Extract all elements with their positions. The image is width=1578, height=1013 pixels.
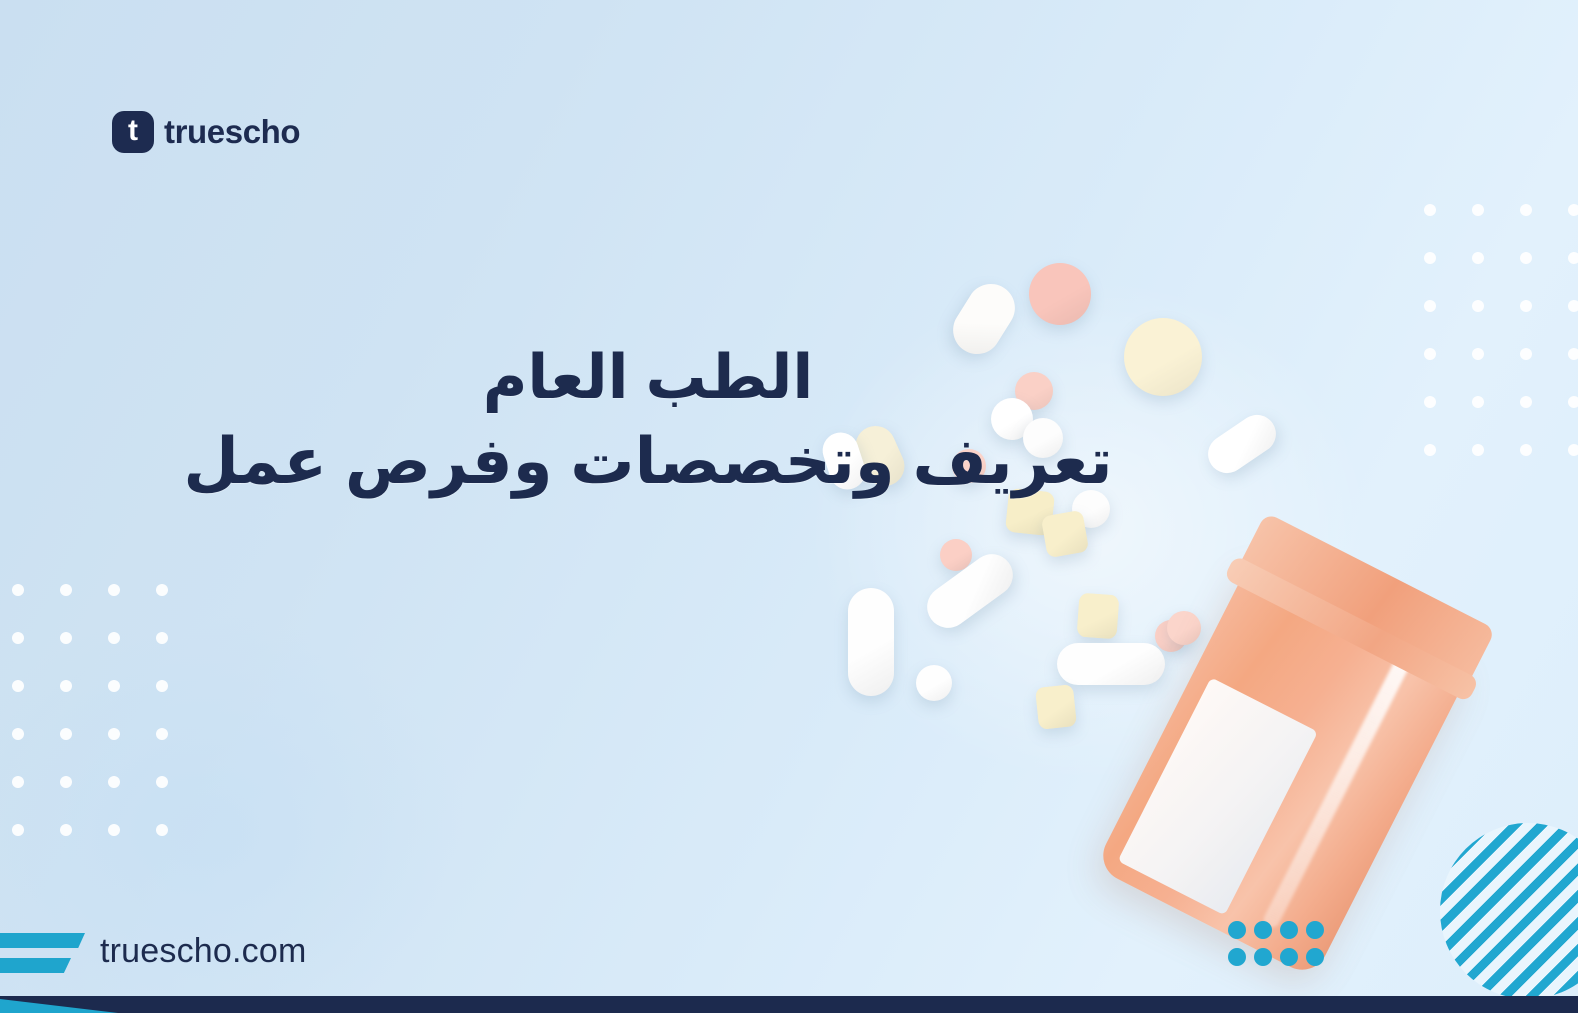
logo-wordmark: truescho: [164, 113, 300, 151]
pill-cream-tab-3: [1077, 593, 1120, 640]
dot: [1472, 204, 1484, 216]
diagonal-striped-circle-icon: [1440, 823, 1578, 999]
dot: [1520, 300, 1532, 312]
dot: [12, 728, 24, 740]
pill-cream-tab-2: [1041, 510, 1090, 559]
dot: [1280, 921, 1298, 939]
pill-white-round-4: [916, 665, 952, 701]
dot: [108, 632, 120, 644]
dot: [60, 632, 72, 644]
dot: [12, 584, 24, 596]
dot: [108, 776, 120, 788]
dot: [60, 824, 72, 836]
dot: [108, 680, 120, 692]
dot: [1254, 948, 1272, 966]
pill-pink-round-1: [1029, 263, 1091, 325]
page-title-line-1: الطب العام: [0, 337, 1296, 419]
dot: [156, 728, 168, 740]
dot: [1472, 252, 1484, 264]
bottom-navy-band: [0, 996, 1578, 1013]
dot: [108, 584, 120, 596]
footer-website-url[interactable]: truescho.com: [100, 932, 306, 971]
dot: [1568, 300, 1578, 312]
dot: [108, 824, 120, 836]
dot: [1520, 252, 1532, 264]
banner-canvas: t truescho الطب العام تعريف وتخصصات وفرص…: [0, 0, 1578, 1013]
dot: [1306, 921, 1324, 939]
dot: [1280, 948, 1298, 966]
dot: [1424, 300, 1436, 312]
pill-cream-tab-4: [1035, 684, 1077, 730]
footer-bar-bottom: [0, 958, 71, 973]
dot: [12, 824, 24, 836]
dot: [156, 632, 168, 644]
dot: [60, 584, 72, 596]
page-title-line-2: تعريف وتخصصات وفرص عمل: [0, 419, 1296, 505]
dot: [156, 584, 168, 596]
dot: [12, 680, 24, 692]
dot: [1306, 948, 1324, 966]
dot: [156, 680, 168, 692]
dot: [1568, 252, 1578, 264]
dot: [12, 776, 24, 788]
dot: [60, 680, 72, 692]
white-dot-grid-left: [12, 584, 204, 872]
page-title: الطب العام تعريف وتخصصات وفرص عمل: [0, 337, 1578, 504]
cyan-dot-grid-bottom-right: [1228, 921, 1332, 975]
dot: [1424, 204, 1436, 216]
dot: [12, 632, 24, 644]
dot: [156, 776, 168, 788]
dot: [1568, 204, 1578, 216]
dot: [156, 824, 168, 836]
dot: [60, 776, 72, 788]
dot: [1424, 252, 1436, 264]
dot: [1228, 948, 1246, 966]
dot: [108, 728, 120, 740]
pill-white-cap-4: [1057, 643, 1165, 685]
dot: [1472, 300, 1484, 312]
footer-bars-icon: [0, 933, 90, 983]
dot: [1228, 921, 1246, 939]
dot: [60, 728, 72, 740]
footer-bar-top: [0, 933, 85, 948]
logo-mark-icon: t: [112, 111, 154, 153]
dot: [1254, 921, 1272, 939]
dot: [1520, 204, 1532, 216]
pill-white-cap-3: [848, 588, 894, 696]
brand-logo[interactable]: t truescho: [112, 111, 300, 153]
